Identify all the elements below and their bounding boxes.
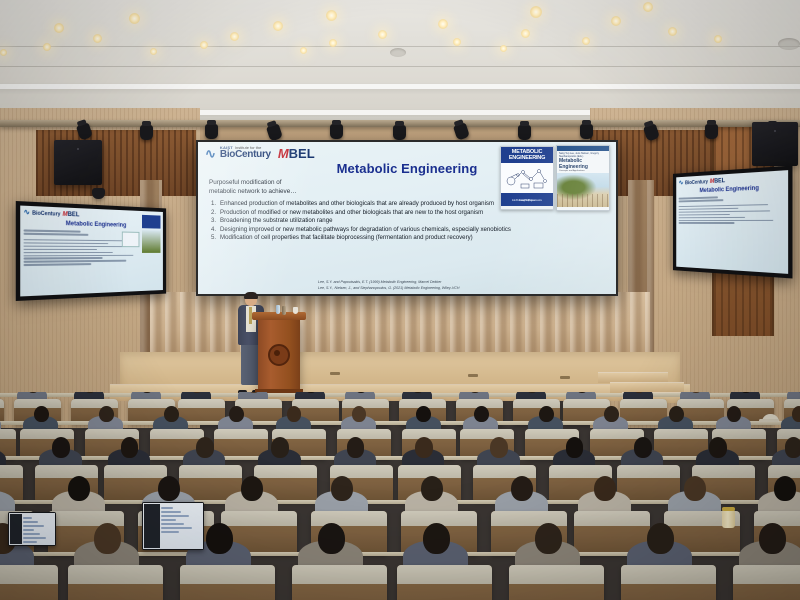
audience-head — [196, 437, 214, 457]
seat-headrest — [590, 429, 644, 439]
audience-head — [347, 437, 365, 457]
seat-headrest — [620, 399, 667, 408]
left-wall-speaker — [54, 140, 102, 185]
ceiling-vent-icon — [778, 38, 800, 50]
stage-curtain-backdrop — [150, 292, 650, 354]
seat-headrest — [337, 429, 391, 439]
citation-line: Lee, S.Y., Nielsen, J., and Stephanopoul… — [318, 286, 610, 291]
slide-bullet-item: 4.Designing improved or new metabolic pa… — [211, 226, 609, 234]
downlight-icon — [378, 30, 387, 39]
audience-head — [121, 437, 139, 457]
audience-head — [785, 437, 800, 457]
book-a-title: METABOLIC ENGINEERING — [501, 147, 553, 163]
laptop-text-line — [23, 537, 46, 539]
auditorium-seat[interactable] — [621, 565, 716, 600]
left-monitor-slide: ∿ BioCentury MBEL Metabolic Engineering — [20, 206, 163, 297]
auditorium-seat[interactable] — [0, 565, 58, 600]
downlight-icon — [326, 10, 337, 21]
seat-headrest — [150, 429, 204, 439]
seat-headrest — [178, 399, 225, 408]
auditorium-scene: ∿ KAIST Institute for the BioCentury MBE… — [0, 0, 800, 600]
audience-head — [99, 406, 114, 423]
downlight-icon — [582, 37, 590, 45]
seat-headrest — [621, 565, 716, 584]
audience-head — [287, 406, 302, 423]
downlight-icon — [438, 19, 448, 29]
bullet-text: Modification of cell properties that fac… — [220, 234, 473, 242]
presentation-slide: ∿ KAIST Institute for the BioCentury MBE… — [198, 142, 616, 294]
downlight-icon — [0, 49, 7, 56]
seat-headrest — [0, 399, 4, 408]
audience-head — [566, 437, 584, 457]
audience-head — [318, 523, 345, 554]
audience-head — [535, 523, 562, 554]
audience-head — [709, 437, 727, 457]
right-wall-speaker — [752, 122, 798, 166]
seat-headrest — [397, 565, 492, 584]
projection-screen: ∿ KAIST Institute for the BioCentury MBE… — [196, 140, 618, 296]
seat-headrest — [460, 429, 514, 439]
laptop-text-line — [23, 525, 44, 527]
laptop-text-line — [23, 529, 35, 531]
seat-headrest — [104, 465, 167, 477]
bullet-text: Production of modified or new metabolite… — [220, 209, 483, 217]
audience-head — [52, 437, 70, 457]
audience-head — [647, 523, 674, 554]
audience-head — [490, 437, 508, 457]
audience-head — [423, 523, 450, 554]
book-cover-wiley: Sang Yup Lee, Jens Nielsen, Gregory Step… — [556, 145, 610, 211]
seat-headrest — [677, 399, 724, 408]
bullet-number: 2. — [211, 209, 218, 217]
right-wall-monitor: ∿ BioCentury MBEL Metabolic Engineering — [673, 165, 792, 278]
auditorium-seat[interactable] — [509, 565, 604, 600]
laptop-text-line — [161, 511, 181, 513]
downlight-icon — [230, 32, 239, 41]
paper-cup — [293, 307, 298, 314]
downlight-icon — [329, 39, 337, 47]
audience-head — [727, 406, 742, 423]
downlight-icon — [530, 6, 542, 18]
downlight-icon — [129, 13, 140, 24]
seat-headrest — [254, 465, 317, 477]
audience-head — [669, 406, 684, 423]
seat-headrest — [509, 565, 604, 584]
laptop-text-line — [23, 517, 32, 519]
book-a-footer: edited by Sang Yup Lee Eleftherios T. Pa… — [501, 193, 553, 206]
left-monitor-logo: ∿ BioCentury MBEL — [24, 208, 161, 221]
audience-head — [94, 523, 121, 554]
right-monitor-body — [679, 194, 785, 224]
honey-jar — [722, 510, 735, 528]
seat-headrest — [692, 465, 755, 477]
auditorium-seat[interactable] — [68, 565, 163, 600]
mbel-rest-letters: BEL — [289, 146, 315, 161]
laptop-text-line — [23, 533, 40, 535]
stage-spotlight-icon — [705, 124, 718, 139]
seat-headrest — [179, 465, 242, 477]
ceiling-speaker-icon — [390, 48, 406, 57]
left-monitor-body — [24, 229, 161, 266]
laptop-sidebar-panel — [10, 514, 22, 544]
biocentury-label: BioCentury — [220, 150, 271, 160]
laptop-text-line — [23, 521, 38, 523]
laptop-text-line — [161, 531, 179, 533]
seat-headrest — [292, 565, 387, 584]
slide-bullet-item: 3.Broadening the substrate utilization r… — [211, 217, 609, 225]
bullet-number: 3. — [211, 217, 218, 225]
audience-head — [604, 406, 619, 423]
water-bottle-1 — [276, 305, 280, 314]
right-monitor-title: Metabolic Engineering — [679, 184, 785, 195]
jar-lid — [722, 507, 735, 511]
slide-bullet-item: 5.Modification of cell properties that f… — [211, 234, 609, 242]
laptop-text-line — [23, 541, 37, 543]
seat-headrest — [0, 565, 58, 584]
downlight-icon — [521, 29, 530, 38]
bullet-text: Designing improved or new metabolic path… — [220, 226, 511, 234]
seat-headrest — [235, 399, 282, 408]
laptop-screen — [9, 513, 55, 545]
downlight-icon — [93, 34, 102, 43]
stage-spotlight-icon — [330, 124, 343, 139]
mbel-logo: MBEL — [278, 147, 315, 160]
bullet-text: Enhanced production of metabolites and o… — [220, 200, 494, 208]
laptop-screen — [143, 503, 203, 549]
book-b-cover-photo — [557, 173, 609, 207]
audience-head — [539, 406, 554, 423]
downlight-icon — [200, 41, 208, 49]
biocentury-swoosh-icon: ∿ — [205, 147, 216, 160]
laptop-sidebar-panel — [144, 504, 160, 548]
audience-head — [634, 437, 652, 457]
laptop-text-line — [161, 527, 192, 529]
bullet-number: 1. — [211, 200, 218, 208]
book-cover-dekker: METABOLIC ENGINEERING — [500, 146, 554, 210]
auditorium-seat[interactable] — [180, 565, 275, 600]
seat-headrest — [513, 399, 560, 408]
stage-spotlight-icon — [518, 125, 531, 140]
left-monitor-title: Metabolic Engineering — [24, 220, 161, 230]
seat-headrest — [35, 465, 98, 477]
seat-headrest — [617, 465, 680, 477]
seat-headrest — [180, 565, 275, 584]
downlight-icon — [643, 2, 653, 12]
seat-headrest — [473, 465, 536, 477]
downlight-icon — [668, 27, 677, 36]
stage-spotlight-icon — [205, 124, 218, 139]
downlight-icon — [453, 38, 461, 46]
seat-headrest — [68, 565, 163, 584]
audience-head — [474, 406, 489, 423]
bullet-number: 4. — [211, 226, 218, 234]
seat-headrest — [574, 511, 650, 526]
audience-head — [34, 406, 49, 423]
downlight-icon — [54, 23, 64, 33]
laptop-text-line — [161, 519, 176, 521]
audience-head — [416, 406, 431, 423]
audience-head — [415, 437, 433, 457]
audience-head — [271, 437, 289, 457]
mbel-m-letter: M — [278, 146, 289, 161]
podium-emblem-icon — [268, 344, 290, 366]
right-monitor-slide: ∿ BioCentury MBEL Metabolic Engineering — [676, 170, 788, 274]
seat-headrest — [71, 399, 118, 408]
audience-head — [352, 406, 367, 423]
seat-headrest — [733, 565, 800, 584]
seat-headrest — [342, 399, 389, 408]
audience-head — [164, 406, 179, 423]
seat-headrest — [402, 429, 456, 439]
podium — [258, 318, 300, 390]
downlight-icon — [611, 16, 621, 26]
bullet-text: Broadening the substrate utilization ran… — [220, 217, 332, 225]
laptop-text-line — [161, 507, 173, 509]
seat-headrest — [292, 399, 339, 408]
audience-head — [229, 406, 244, 423]
audience-head — [206, 523, 233, 554]
stage-spotlight-icon — [140, 125, 153, 140]
seat-headrest — [20, 429, 74, 439]
auditorium-seat[interactable] — [733, 565, 800, 600]
seat-headrest — [214, 429, 268, 439]
audience-laptop-center[interactable] — [142, 502, 204, 550]
audience-head — [792, 406, 800, 423]
stage-spotlight-icon — [580, 124, 593, 139]
book-b-title: Metabolic Engineering — [557, 159, 609, 170]
stage-spotlight-icon — [393, 125, 406, 140]
audience-laptop-left[interactable] — [8, 512, 56, 546]
beige-cap — [762, 414, 779, 422]
seat-headrest — [311, 511, 387, 526]
slide-citations: Lee, S.Y. and Papoutsakis, E.T. (1999) M… — [318, 280, 610, 291]
left-wall-camera-icon — [92, 188, 105, 199]
audience-head — [759, 523, 786, 554]
seat-headrest — [491, 511, 567, 526]
downlight-icon — [500, 45, 507, 52]
downlight-icon — [150, 48, 157, 55]
water-bottle-2 — [282, 306, 286, 315]
bullet-number: 5. — [211, 234, 218, 242]
seat-headrest — [654, 429, 708, 439]
pathway-network-diagram-icon — [501, 163, 553, 193]
seat-headrest — [563, 399, 610, 408]
seat-headrest — [0, 465, 23, 477]
seat-headrest — [221, 511, 297, 526]
left-wall-monitor: ∿ BioCentury MBEL Metabolic Engineering — [16, 201, 166, 301]
auditorium-seat[interactable] — [397, 565, 492, 600]
audience-area — [0, 392, 800, 600]
seat-headrest — [0, 429, 16, 439]
laptop-text-line — [161, 515, 189, 517]
laptop-text-line — [161, 523, 184, 525]
downlight-icon — [43, 43, 51, 51]
downlight-icon — [300, 47, 307, 54]
downlight-icon — [273, 21, 283, 31]
downlight-icon — [714, 35, 722, 43]
auditorium-seat[interactable] — [292, 565, 387, 600]
